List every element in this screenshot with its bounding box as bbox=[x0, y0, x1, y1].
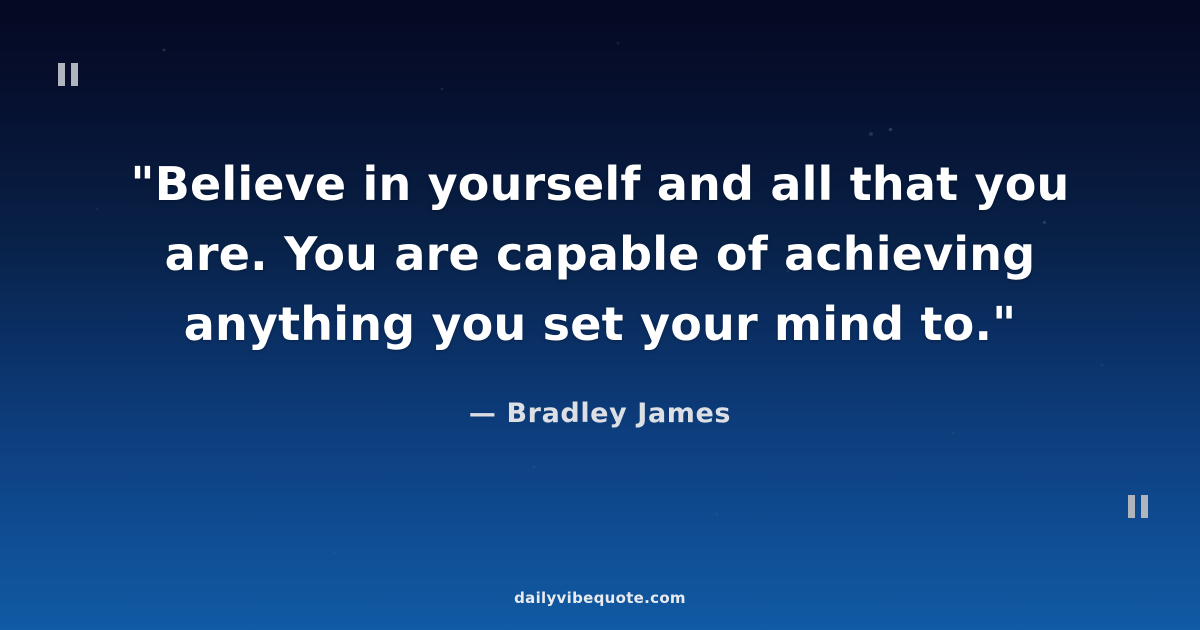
quote-content: "Believe in yourself and all that you ar… bbox=[0, 0, 1200, 630]
quote-card: "Believe in yourself and all that you ar… bbox=[0, 0, 1200, 630]
quote-line: anything you set your mind to." bbox=[184, 297, 1017, 351]
quote-line: "Believe in yourself and all that you bbox=[131, 157, 1070, 211]
quote-line: are. You are capable of achieving bbox=[165, 227, 1036, 281]
footer-site-url: dailyvibequote.com bbox=[0, 589, 1200, 607]
quote-text: "Believe in yourself and all that you ar… bbox=[100, 149, 1100, 359]
quote-attribution: — Bradley James bbox=[100, 398, 1100, 429]
